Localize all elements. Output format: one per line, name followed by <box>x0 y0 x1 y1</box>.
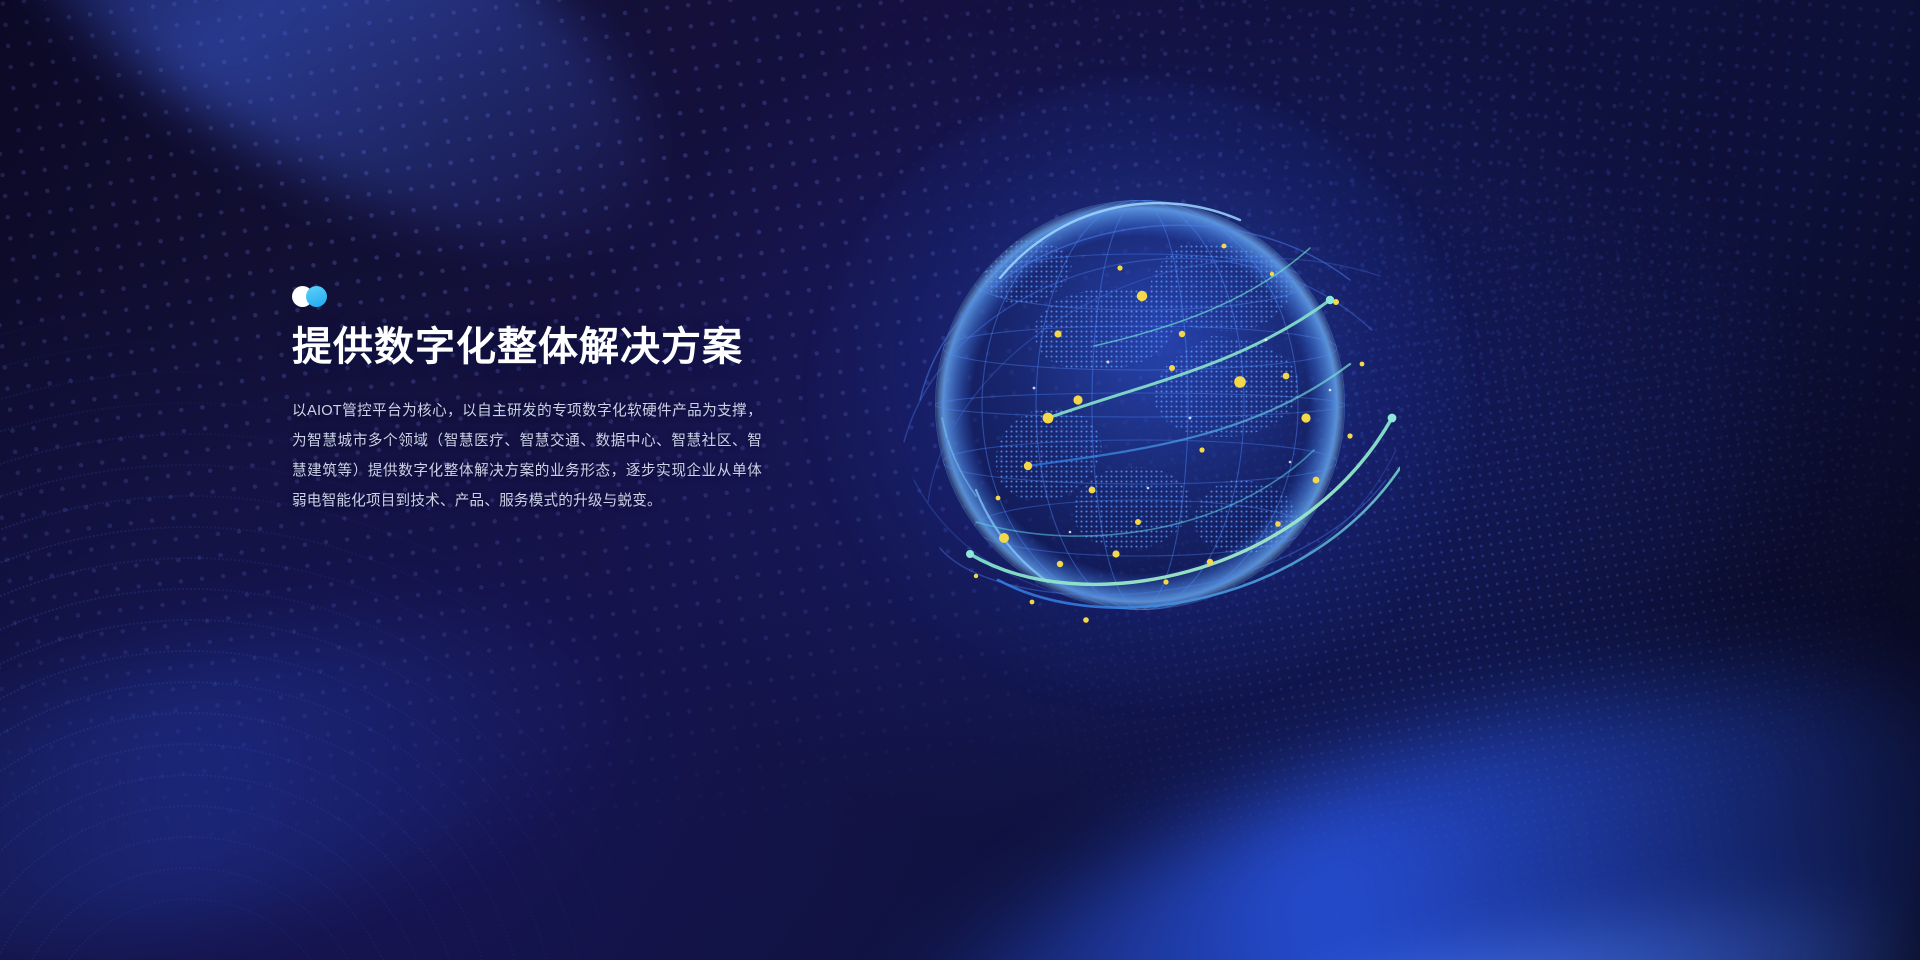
background-arc-ring <box>0 557 683 960</box>
background-arc-ring <box>0 495 745 960</box>
background-arc-ring <box>0 464 776 960</box>
page-title: 提供数字化整体解决方案 <box>292 325 772 370</box>
background-arc-ring <box>0 836 404 960</box>
background-arc-ring <box>7 867 373 960</box>
hero-text-block: 提供数字化整体解决方案 以AIOT管控平台为核心，以自主研发的专项数字化软硬件产… <box>292 285 772 516</box>
background-arc-ring <box>0 712 528 960</box>
hero-description: 以AIOT管控平台为核心，以自主研发的专项数字化软硬件产品为支撑，为智慧城市多个… <box>292 396 762 516</box>
background-arc-ring <box>0 743 497 960</box>
background-arc-ring <box>0 619 621 960</box>
background-arc-ring <box>0 588 652 960</box>
globe-icon <box>880 150 1400 670</box>
background-arc-ring <box>0 650 590 960</box>
background-arc-ring <box>0 526 714 960</box>
light-streak-left <box>0 562 658 960</box>
background-arc-ring <box>0 805 435 960</box>
background-arc-ring <box>38 898 342 960</box>
background-arc-ring <box>0 681 559 960</box>
decorative-dot-badge <box>292 285 772 307</box>
hero-banner: 提供数字化整体解决方案 以AIOT管控平台为核心，以自主研发的专项数字化软硬件产… <box>0 0 1920 960</box>
light-streak-bottom-right-inner <box>958 828 1920 960</box>
circle-cyan-icon <box>306 286 327 307</box>
background-arc-ring <box>0 774 466 960</box>
digital-globe-illustration <box>880 150 1400 670</box>
